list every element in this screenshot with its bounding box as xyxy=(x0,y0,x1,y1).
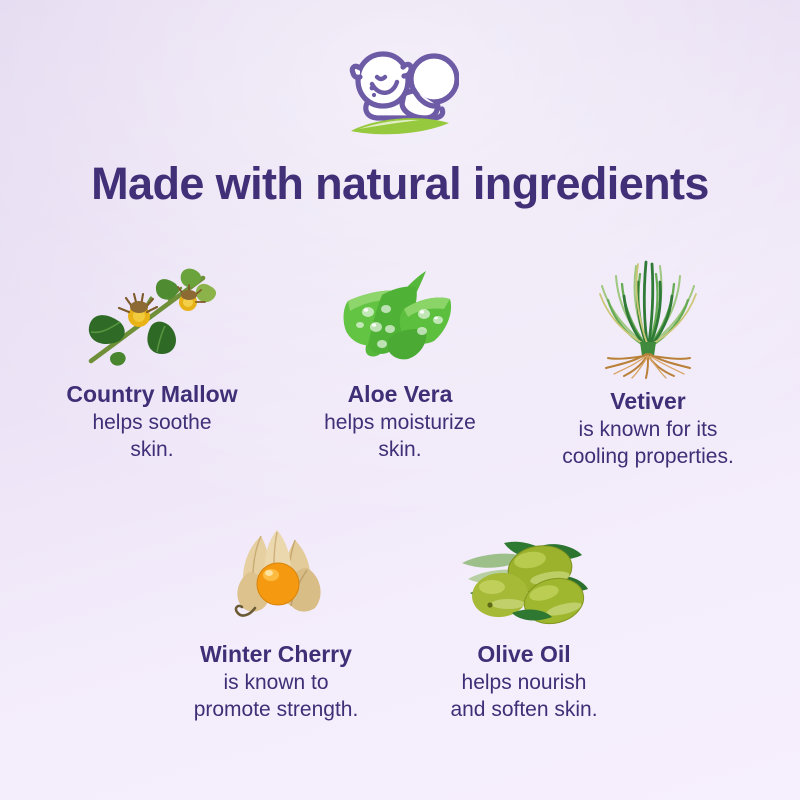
desc-line: is known to xyxy=(194,669,359,696)
sleeping-baby-icon xyxy=(341,44,459,136)
ingredient-description: helps soothe skin. xyxy=(66,409,237,463)
ingredient-name: Winter Cherry xyxy=(194,640,359,669)
ingredients-row-2: Winter Cherry is known to promote streng… xyxy=(0,512,800,723)
ingredient-caption: Vetiver is known for its cooling propert… xyxy=(562,377,734,470)
ingredient-caption: Winter Cherry is known to promote streng… xyxy=(194,630,359,723)
spacer-cell xyxy=(0,512,152,723)
country-mallow-plant-image xyxy=(72,252,232,370)
ingredient-name: Country Mallow xyxy=(66,380,237,409)
desc-line: helps soothe xyxy=(66,409,237,436)
spacer-cell xyxy=(648,512,800,723)
desc-line: helps moisturize xyxy=(324,409,476,436)
desc-line: helps nourish xyxy=(450,669,597,696)
ingredient-card-olive-oil: Olive Oil helps nourish and soften skin. xyxy=(400,512,648,723)
ingredient-card-winter-cherry: Winter Cherry is known to promote streng… xyxy=(152,512,400,723)
vetiver-grass-image xyxy=(568,252,728,377)
ingredient-caption: Country Mallow helps soothe skin. xyxy=(66,370,237,463)
aloe-vera-slices-image xyxy=(320,252,480,370)
ingredient-name: Olive Oil xyxy=(450,640,597,669)
desc-line: promote strength. xyxy=(194,696,359,723)
ingredient-description: is known to promote strength. xyxy=(194,669,359,723)
ingredient-caption: Aloe Vera helps moisturize skin. xyxy=(324,370,476,463)
desc-line: is known for its xyxy=(562,416,734,443)
ingredient-card-country-mallow: Country Mallow helps soothe skin. xyxy=(28,252,276,470)
ingredient-description: helps nourish and soften skin. xyxy=(450,669,597,723)
olives-image xyxy=(444,512,604,630)
ingredients-infographic: Made with natural ingredients xyxy=(0,0,800,800)
ingredient-name: Vetiver xyxy=(562,387,734,416)
winter-cherry-fruit-image xyxy=(196,512,356,630)
ingredient-name: Aloe Vera xyxy=(324,380,476,409)
desc-line: skin. xyxy=(66,436,237,463)
brand-logo xyxy=(0,44,800,141)
desc-line: skin. xyxy=(324,436,476,463)
ingredient-caption: Olive Oil helps nourish and soften skin. xyxy=(450,630,597,723)
page-title: Made with natural ingredients xyxy=(0,158,800,210)
ingredient-description: is known for its cooling properties. xyxy=(562,416,734,470)
ingredient-card-aloe-vera: Aloe Vera helps moisturize skin. xyxy=(276,252,524,470)
ingredients-row-1: Country Mallow helps soothe skin. xyxy=(0,252,800,470)
ingredient-description: helps moisturize skin. xyxy=(324,409,476,463)
desc-line: cooling properties. xyxy=(562,443,734,470)
desc-line: and soften skin. xyxy=(450,696,597,723)
ingredient-card-vetiver: Vetiver is known for its cooling propert… xyxy=(524,252,772,470)
